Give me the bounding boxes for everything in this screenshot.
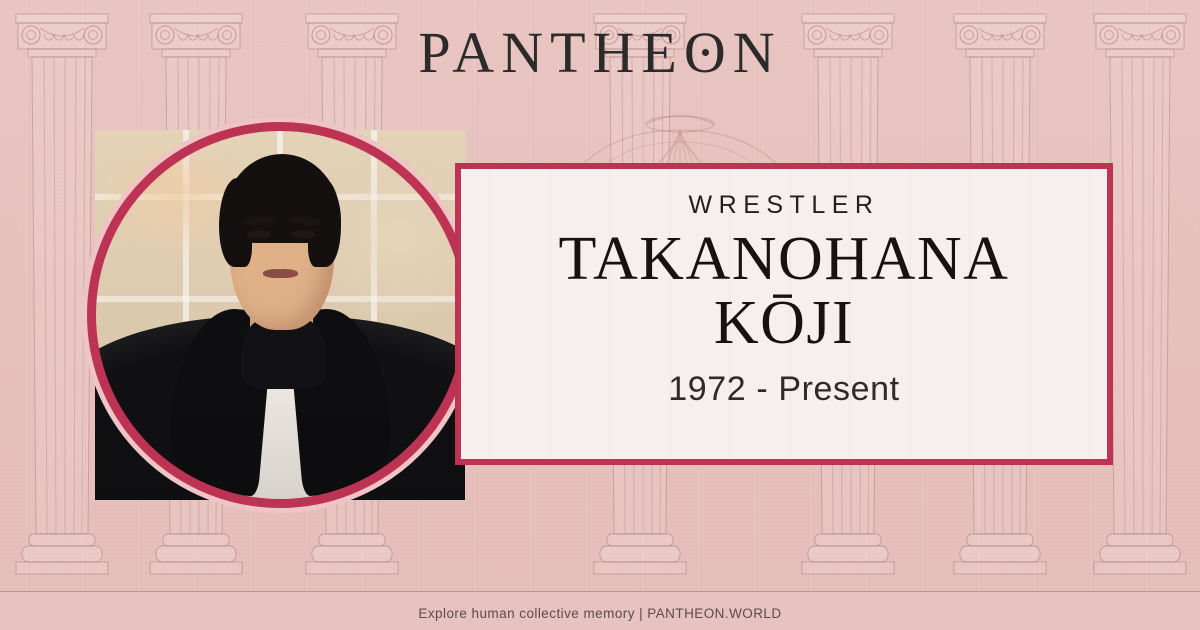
life-span: 1972 - Present [668, 370, 899, 409]
occupation-label: WRESTLER [689, 191, 880, 220]
pantheon-logo: PANTHEON [0, 24, 1200, 82]
portrait-ring-accent [87, 122, 473, 508]
portrait [95, 130, 465, 500]
logo-text-part2: N [733, 20, 782, 85]
pantheon-social-card: PANTHEON [0, 0, 1200, 630]
logo-o-dot-icon: O [684, 24, 733, 82]
person-name-line1: TAKANOHANA [559, 228, 1010, 292]
person-name: TAKANOHANA KŌJI [559, 228, 1010, 356]
logo-text-part1: PANTHE [418, 20, 683, 85]
footer-text: Explore human collective memory | PANTHE… [0, 606, 1200, 621]
person-info-card: WRESTLER TAKANOHANA KŌJI 1972 - Present [455, 163, 1113, 465]
person-name-line2: KŌJI [559, 292, 1010, 356]
